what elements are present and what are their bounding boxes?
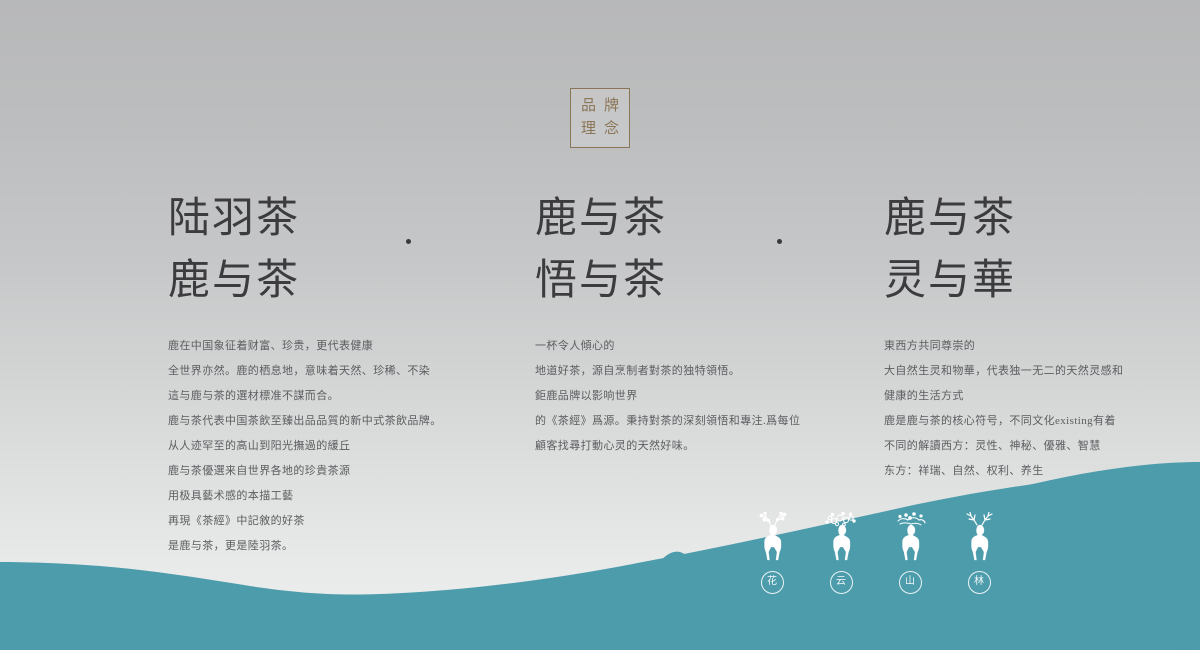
- column-3-heading-line-2: 灵与華: [884, 250, 1184, 312]
- column-2-body: 一杯令人傾心的 地道好茶，源自烹制者對茶的独特領悟。 鉅鹿品牌以影响世界 的《茶…: [535, 334, 825, 459]
- deer-emblem-cloud[interactable]: 云: [821, 512, 861, 594]
- body-line: 鉅鹿品牌以影响世界: [535, 384, 825, 409]
- deer-badge-label: 花: [761, 571, 784, 594]
- body-line: 全世界亦然。鹿的栖息地，意味着天然、珍稀、不染: [168, 359, 458, 384]
- body-line: 鹿是鹿与茶的核心符号，不同文化existing有着: [884, 409, 1184, 434]
- seal-char-2: 牌: [600, 95, 623, 118]
- body-line: 鹿与茶優選来自世界各地的珍貴茶源: [168, 459, 458, 484]
- body-line: 用极具藝术感的本描工藝: [168, 484, 458, 509]
- body-line: 大自然生灵和物華，代表独一无二的天然灵感和: [884, 359, 1184, 384]
- body-line: 不同的解讀西方：灵性、神秘、優雅、智慧: [884, 434, 1184, 459]
- deer-emblem-forest[interactable]: 林: [959, 512, 999, 594]
- content-column-1: 陆羽茶 鹿与茶 鹿在中国象征着财富、珍贵，更代表健康 全世界亦然。鹿的栖息地，意…: [168, 188, 458, 559]
- column-3-body: 東西方共同尊崇的 大自然生灵和物華，代表独一无二的天然灵感和 健康的生活方式 鹿…: [884, 334, 1184, 484]
- deer-flower-icon: [752, 512, 792, 564]
- brand-philosophy-page: 品 牌 理 念 陆羽茶 鹿与茶 鹿在中国象征着财富、珍贵，更代表健康 全世界亦然…: [0, 0, 1200, 650]
- body-line: 這与鹿与茶的選材標准不謀而合。: [168, 384, 458, 409]
- deer-badge-label: 林: [968, 571, 991, 594]
- body-line: 的《茶經》爲源。秉持對茶的深刻領悟和專注.爲每位: [535, 409, 825, 434]
- body-line: 健康的生活方式: [884, 384, 1184, 409]
- brand-philosophy-seal: 品 牌 理 念: [570, 88, 630, 148]
- deer-forest-icon: [959, 512, 999, 564]
- body-line: 東西方共同尊崇的: [884, 334, 1184, 359]
- column-1-heading-line-1: 陆羽茶: [168, 188, 458, 250]
- deer-emblem-flower[interactable]: 花: [752, 512, 792, 594]
- column-1-heading-line-2: 鹿与茶: [168, 250, 458, 312]
- column-2-heading-line-1: 鹿与茶: [535, 188, 825, 250]
- column-1-body: 鹿在中国象征着财富、珍贵，更代表健康 全世界亦然。鹿的栖息地，意味着天然、珍稀、…: [168, 334, 458, 559]
- body-line: 东方：祥瑞、自然、权利、养生: [884, 459, 1184, 484]
- deer-mountain-icon: [890, 512, 930, 564]
- deer-emblem-mountain[interactable]: 山: [890, 512, 930, 594]
- body-line: 鹿与茶代表中国茶飲至臻出品品質的新中式茶飲品牌。: [168, 409, 458, 434]
- body-line: 地道好茶，源自烹制者對茶的独特領悟。: [535, 359, 825, 384]
- deer-cloud-icon: [821, 512, 861, 564]
- seal-char-3: 理: [577, 118, 600, 141]
- content-column-3: 鹿与茶 灵与華 東西方共同尊崇的 大自然生灵和物華，代表独一无二的天然灵感和 健…: [884, 188, 1184, 484]
- deer-badge-label: 山: [899, 571, 922, 594]
- column-2-heading-line-2: 悟与茶: [535, 250, 825, 312]
- body-line: 鹿在中国象征着财富、珍贵，更代表健康: [168, 334, 458, 359]
- body-line: 是鹿与茶，更是陸羽茶。: [168, 534, 458, 559]
- deer-badge-label: 云: [830, 571, 853, 594]
- column-3-heading-line-1: 鹿与茶: [884, 188, 1184, 250]
- deer-emblem-row: 花 云: [752, 512, 999, 594]
- body-line: 再現《茶經》中記敘的好茶: [168, 509, 458, 534]
- seal-char-4: 念: [600, 118, 623, 141]
- seal-char-1: 品: [577, 95, 600, 118]
- body-line: 从人迹罕至的高山到阳光撫過的緩丘: [168, 434, 458, 459]
- content-column-2: 鹿与茶 悟与茶 一杯令人傾心的 地道好茶，源自烹制者對茶的独特領悟。 鉅鹿品牌以…: [535, 188, 825, 459]
- body-line: 顧客找尋打動心灵的天然好味。: [535, 434, 825, 459]
- body-line: 一杯令人傾心的: [535, 334, 825, 359]
